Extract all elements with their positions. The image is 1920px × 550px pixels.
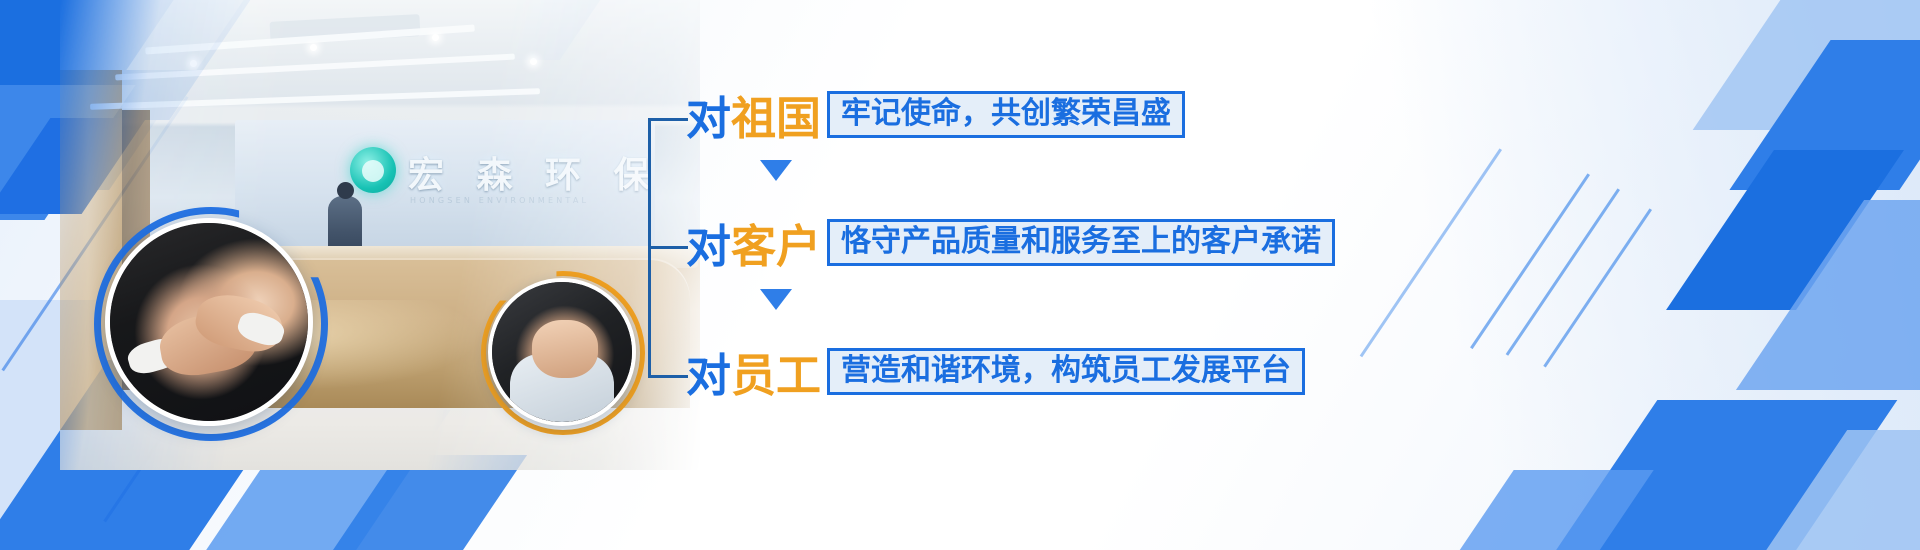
statement-prefix-1: 对 [686, 92, 731, 145]
handshake-photo [105, 218, 313, 426]
statement-lead-3: 对员工 [686, 339, 821, 404]
statement-prefix-2: 对 [686, 220, 731, 273]
arrow-down-icon-2 [760, 289, 792, 310]
company-sign-text: 宏 森 环 保 [408, 146, 660, 198]
statement-row-2: 对客户 恪守产品质量和服务至上的客户承诺 [686, 210, 1335, 275]
culture-statement-block: 对祖国 牢记使命，共创繁荣昌盛 对客户 恪守产品质量和服务至上的客户承诺 对员工… [648, 82, 1348, 412]
statement-prefix-3: 对 [686, 349, 731, 402]
statement-phrase-2: 恪守产品质量和服务至上的客户承诺 [827, 219, 1335, 266]
ceiling-spot-1 [190, 60, 197, 67]
ceiling-light-2 [115, 54, 515, 81]
statement-target-1: 祖国 [731, 92, 821, 145]
statement-lead-1: 对祖国 [686, 82, 821, 147]
statement-row-1: 对祖国 牢记使命，共创繁荣昌盛 [686, 82, 1185, 147]
applause-hands [532, 320, 598, 378]
statement-lead-2: 对客户 [686, 210, 821, 275]
ceiling-spot-2 [310, 44, 317, 51]
ceiling-light-3 [90, 88, 540, 110]
connector-branch-3 [648, 375, 688, 378]
ceiling-spot-4 [530, 58, 537, 65]
statement-row-3: 对员工 营造和谐环境，构筑员工发展平台 [686, 339, 1305, 404]
handshake-image [110, 223, 308, 421]
company-sign-subtext: HONGSEN ENVIRONMENTAL [410, 196, 589, 205]
connector-branch-2 [648, 246, 688, 249]
company-culture-banner: 宏 森 环 保 HONGSEN ENVIRONMENTAL [0, 0, 1920, 550]
company-logo-mark [350, 147, 396, 193]
connector-branch-1 [648, 118, 688, 121]
statement-phrase-1: 牢记使命，共创繁荣昌盛 [827, 91, 1185, 138]
statement-target-3: 员工 [731, 349, 821, 402]
statement-phrase-3: 营造和谐环境，构筑员工发展平台 [827, 348, 1305, 395]
applause-photo [488, 278, 636, 426]
arrow-down-icon-1 [760, 160, 792, 181]
statement-target-2: 客户 [731, 220, 821, 273]
ceiling-spot-3 [432, 34, 439, 41]
applause-image [492, 282, 632, 422]
